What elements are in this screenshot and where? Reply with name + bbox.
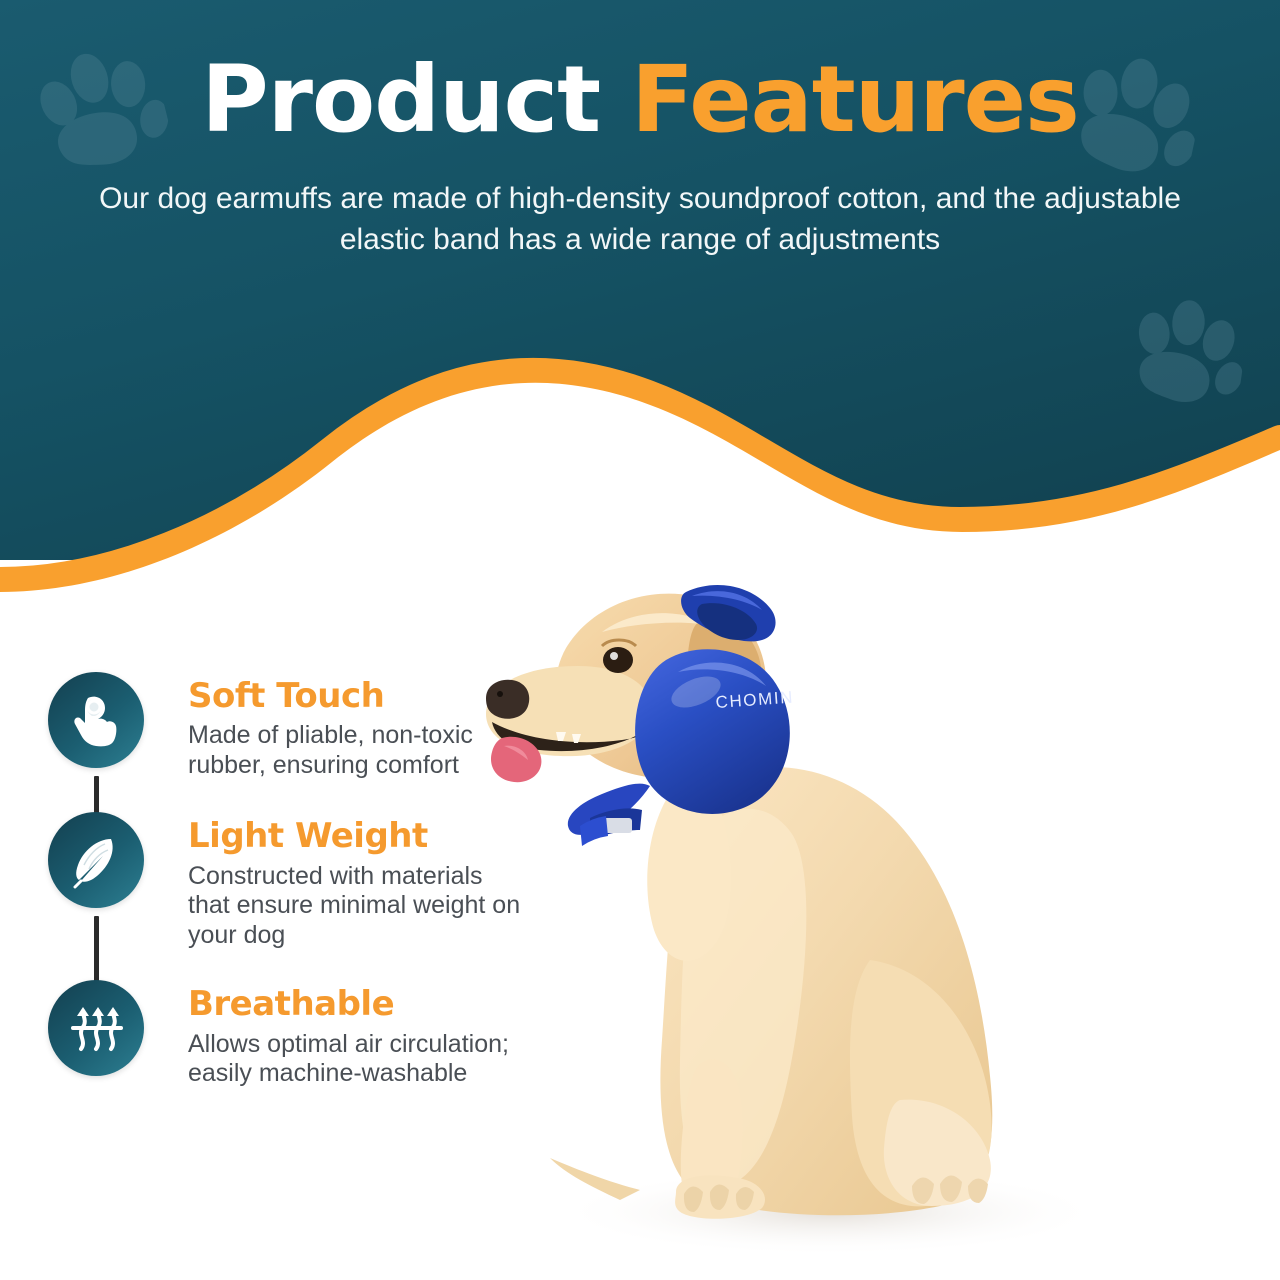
feature-description: Constructed with materials that ensure m…	[188, 862, 528, 951]
feature-text-column: Soft Touch Made of pliable, non-toxic ru…	[188, 672, 528, 780]
title-word-accent: Features	[631, 46, 1079, 153]
feature-text-column: Breathable Allows optimal air circulatio…	[188, 980, 528, 1088]
feature-title: Breathable	[188, 986, 528, 1023]
feature-item-breathable: Breathable Allows optimal air circulatio…	[48, 980, 528, 1088]
feature-icon-column	[48, 812, 188, 908]
feature-list: Soft Touch Made of pliable, non-toxic ru…	[48, 672, 528, 1027]
feature-item-light-weight: Light Weight Constructed with materials …	[48, 812, 528, 950]
feature-icon-column	[48, 672, 188, 768]
feature-text-column: Light Weight Constructed with materials …	[188, 812, 528, 950]
feature-item-soft-touch: Soft Touch Made of pliable, non-toxic ru…	[48, 672, 528, 780]
page-title: Product Features	[0, 52, 1280, 149]
title-word-primary: Product	[201, 46, 600, 153]
feature-title: Soft Touch	[188, 678, 528, 715]
airflow-icon	[48, 980, 144, 1076]
feature-icon-column	[48, 980, 188, 1076]
feature-description: Allows optimal air circulation; easily m…	[188, 1030, 528, 1089]
page-subtitle: Our dog earmuffs are made of high-densit…	[60, 178, 1220, 261]
feature-title: Light Weight	[188, 818, 528, 855]
product-photo-dog: CHOMIN	[470, 500, 1170, 1280]
hand-touch-icon	[48, 672, 144, 768]
infographic-canvas: Product Features Our dog earmuffs are ma…	[0, 0, 1280, 1280]
feature-description: Made of pliable, non-toxic rubber, ensur…	[188, 721, 528, 780]
feather-icon	[48, 812, 144, 908]
